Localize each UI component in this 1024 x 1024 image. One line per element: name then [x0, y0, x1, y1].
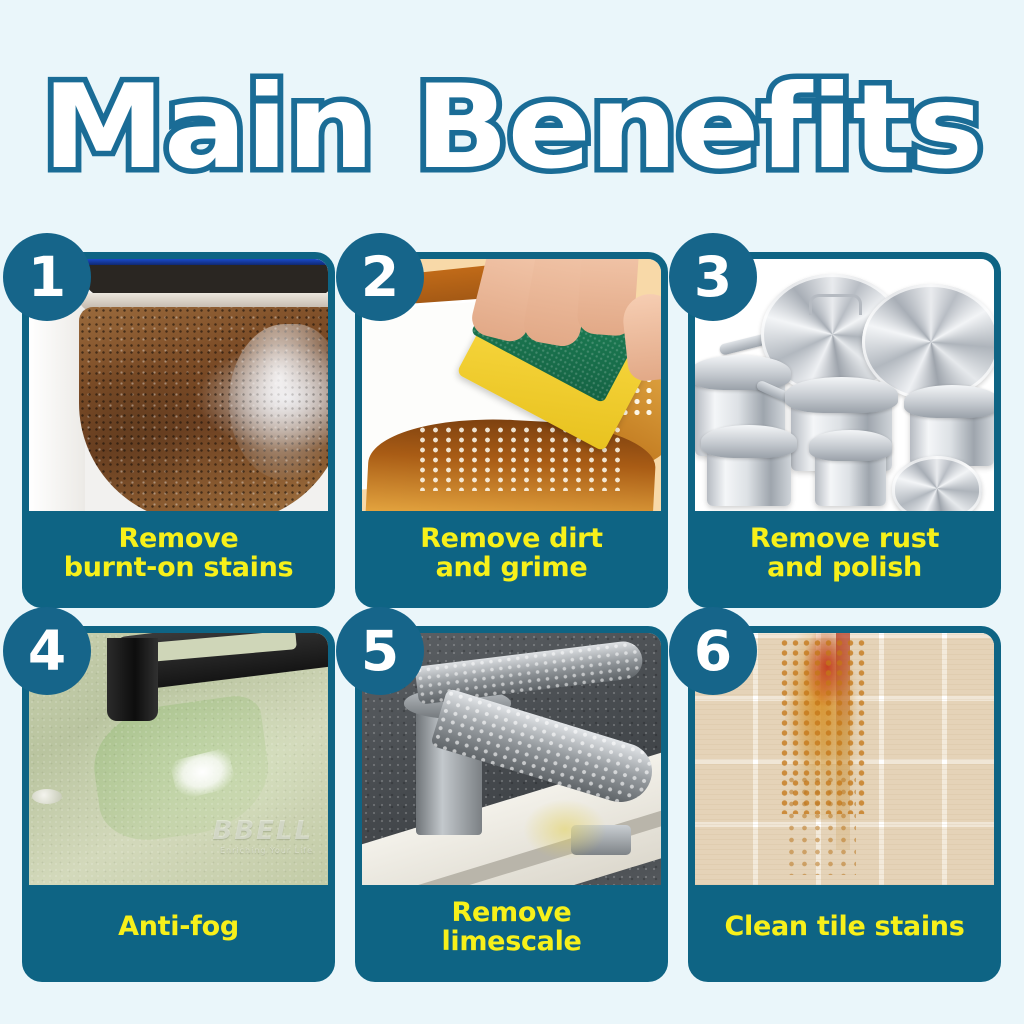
image-watermark: BBELL Enriching Your Life [213, 818, 314, 855]
benefit-card-6[interactable]: 6 Clean tile stains [688, 626, 1001, 982]
benefit-number-badge-5: 5 [336, 607, 424, 695]
benefit-number-badge-1: 1 [3, 233, 91, 321]
benefit-number-badge-2: 2 [336, 233, 424, 321]
benefit-caption-4: Anti-fog [29, 885, 328, 975]
page-title-container: Main Benefits [0, 58, 1024, 198]
benefit-number-badge-4: 4 [3, 607, 91, 695]
page-title: Main Benefits [42, 70, 982, 186]
benefits-grid: 1 Remove burnt-on stains 2 [22, 252, 1002, 982]
benefit-card-5[interactable]: 5 Remove limescale [355, 626, 668, 982]
benefit-card-4[interactable]: 4 BBELL Enriching Your Life Anti-fog [22, 626, 335, 982]
benefit-caption-3: Remove rust and polish [695, 511, 994, 601]
benefit-number-badge-6: 6 [669, 607, 757, 695]
benefit-caption-1: Remove burnt-on stains [29, 511, 328, 601]
watermark-tagline: Enriching Your Life [213, 847, 314, 855]
benefit-card-1[interactable]: 1 Remove burnt-on stains [22, 252, 335, 608]
benefit-number-badge-3: 3 [669, 233, 757, 321]
benefit-caption-6: Clean tile stains [695, 885, 994, 975]
benefit-caption-5: Remove limescale [362, 885, 661, 975]
benefit-caption-2: Remove dirt and grime [362, 511, 661, 601]
benefit-card-3[interactable]: 3 [688, 252, 1001, 608]
benefit-card-2[interactable]: 2 Remove dirt and grime [355, 252, 668, 608]
watermark-brand: BBELL [213, 816, 314, 846]
